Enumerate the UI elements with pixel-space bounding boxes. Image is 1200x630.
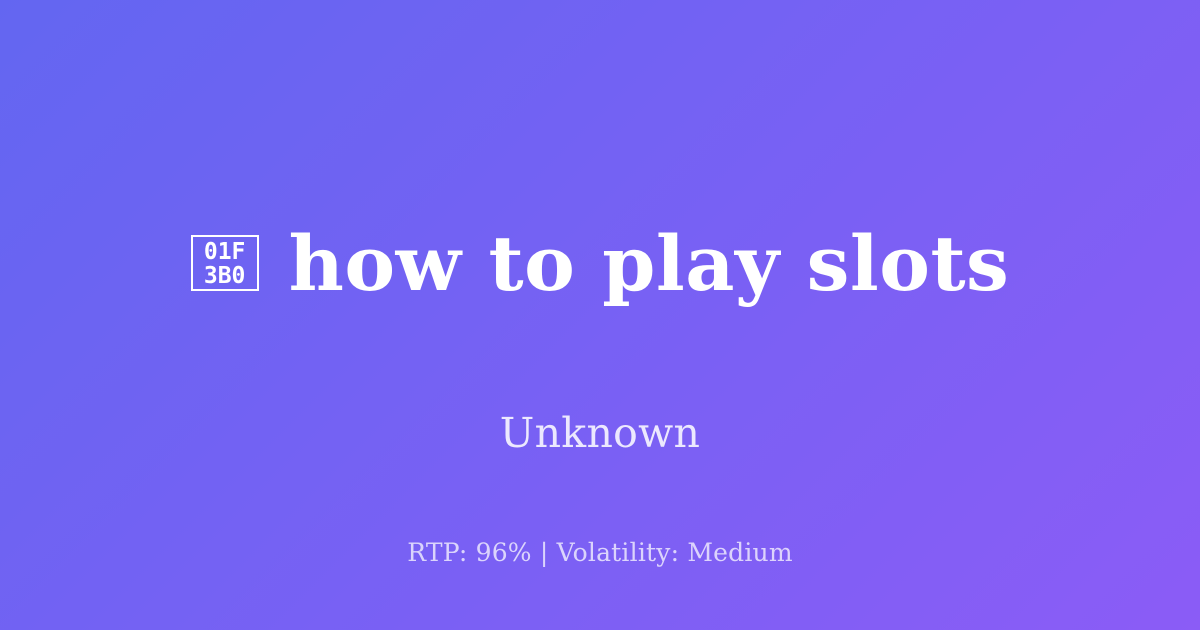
tofu-codepoint-top: 01F: [204, 240, 246, 264]
slot-machine-icon: 01F 3B0: [191, 235, 259, 291]
tofu-codepoint-bottom: 3B0: [204, 264, 246, 288]
title-row: 01F 3B0 how to play slots: [151, 174, 1050, 353]
og-image-card: 01F 3B0 how to play slots Unknown RTP: 9…: [0, 0, 1200, 630]
page-title: how to play slots: [289, 225, 1010, 303]
subtitle: Unknown: [500, 411, 701, 456]
meta-stats: RTP: 96% | Volatility: Medium: [407, 538, 793, 567]
meta-footer: RTP: 96% | Volatility: Medium: [0, 538, 1200, 568]
